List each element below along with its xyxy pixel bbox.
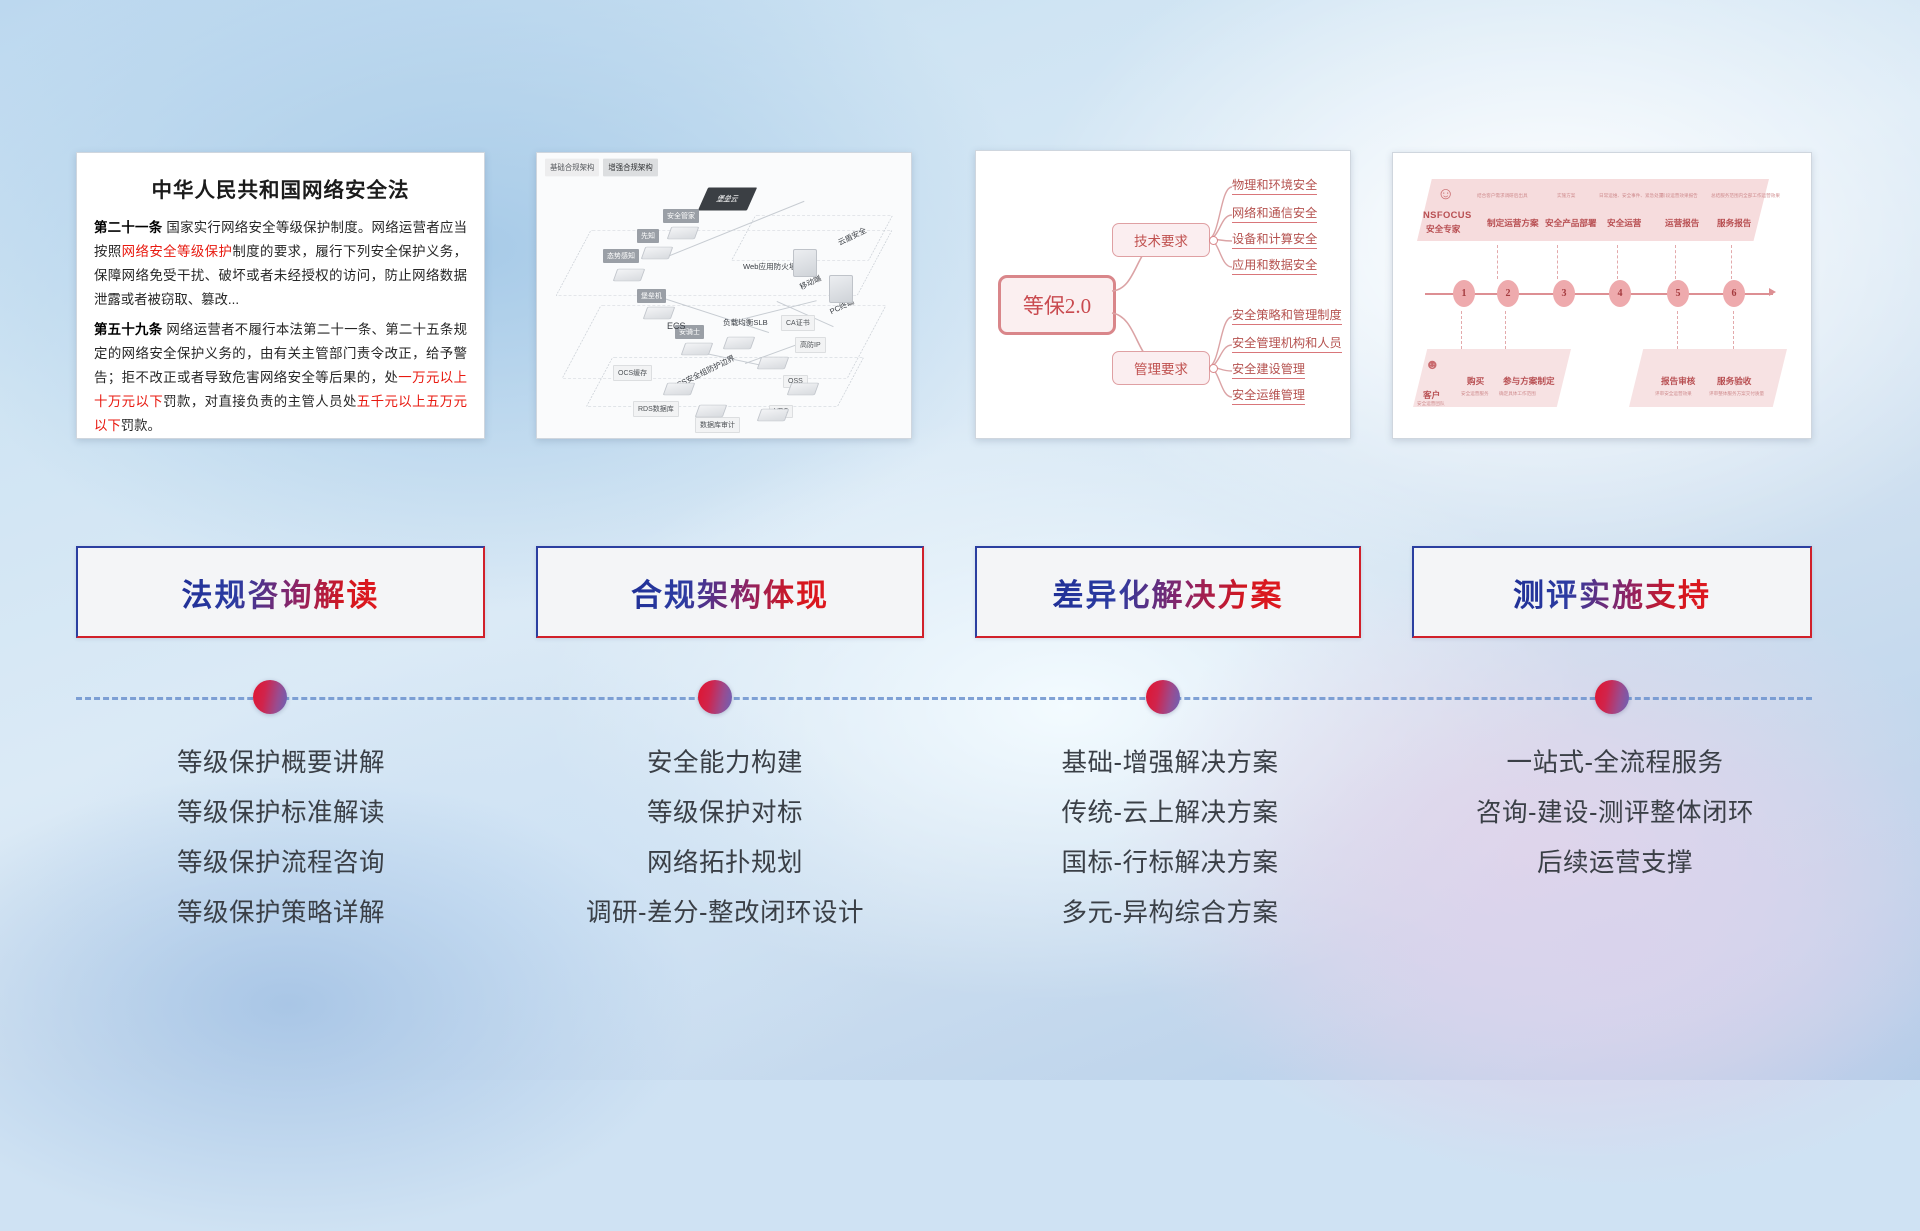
list-item: 多元-异构综合方案 [945,888,1395,938]
flow-top-sub-0: 结合客户需求调研后出具 [1477,193,1528,199]
expert-person-icon: ☺ [1437,185,1454,202]
flow-axis-line [1425,293,1773,295]
arch-tag-situational-awareness: 态势感知 [603,249,639,263]
list-item: 等级保护标准解读 [56,788,506,838]
list-item: 等级保护流程咨询 [56,838,506,888]
flow-bottom-left-sub-1: 确定具体工作范围 [1499,391,1536,397]
flow-step-3: 3 [1553,280,1575,307]
headline-label-1: 合规架构体现 [631,570,829,615]
arch-tag-fortress-cloud: 堡垒云 [698,188,757,211]
arch-tag-ocs-cache: OCS缓存 [613,365,652,381]
flow-bottom-right-sub-0: 评审安全运营效果 [1655,391,1692,397]
flow-axis-arrow [1769,288,1776,296]
mindmap-leaf-physical-environment: 物理和环境安全 [1232,175,1317,195]
arch-label-waf: Web应用防火墙 [743,261,796,272]
headline-box-differentiated-solution[interactable]: 差异化解决方案 [975,546,1361,638]
flow-top-sub-4: 总结服务范围内全部工作运营效果 [1711,193,1780,199]
mindmap-branch-technical: 技术要求 [1112,223,1210,257]
arch-tag-rds-database: RDS数据库 [633,401,679,417]
headline-label-3: 测评实施支持 [1513,570,1711,615]
arch-tag-xianzhi: 先知 [637,229,659,243]
flow-brand-name: NSFOCUS [1423,209,1472,220]
flow-top-sub-1: 实施方案 [1557,193,1575,199]
flow-top-title-2: 安全运营 [1607,217,1641,229]
flow-brand-sub: 安全专家 [1426,223,1460,235]
customer-person-icon: ☻ [1425,357,1440,371]
list-item: 等级保护策略详解 [56,888,506,938]
headline-label-0: 法规咨询解读 [182,570,380,615]
arch-tag-anti-ddos-ip: 高防IP [795,337,826,353]
timeline-dot-2[interactable] [698,680,732,714]
arch-tag-security-butler: 安全管家 [663,209,699,223]
mindmap-leaf-security-org-personnel: 安全管理机构和人员 [1232,333,1342,353]
timeline-dashed-line [76,697,1812,700]
flow-top-title-0: 制定运营方案 [1487,217,1539,229]
law-article-number: 第二十一条 [94,220,162,235]
mindmap-node-dot-management[interactable] [1209,364,1218,373]
list-item: 一站式-全流程服务 [1390,738,1840,788]
feature-column-solutions: 基础-增强解决方案 传统-云上解决方案 国标-行标解决方案 多元-异构综合方案 [945,738,1395,938]
arch-label-slb: 负载均衡SLB [723,317,768,328]
flow-bottom-left-sub-0: 安全运营服务 [1461,391,1489,397]
flow-bottom-left-title-1: 参与方案制定 [1503,375,1555,387]
list-item: 网络拓扑规划 [500,838,950,888]
list-item: 调研-差分-整改闭环设计 [500,888,950,938]
feature-column-regulation: 等级保护概要讲解 等级保护标准解读 等级保护流程咨询 等级保护策略详解 [56,738,506,938]
mindmap-leaf-security-policy: 安全策略和管理制度 [1232,305,1342,325]
timeline-dot-4[interactable] [1595,680,1629,714]
headline-box-compliance-architecture[interactable]: 合规架构体现 [536,546,924,638]
flow-top-title-3: 运营报告 [1665,217,1699,229]
headline-box-regulation-consulting[interactable]: 法规咨询解读 [76,546,485,638]
flow-step-1: 1 [1453,280,1475,307]
mindmap-card: 等保2.0 技术要求 物理和环境安全 网络和通信安全 设备和计算安全 应用和数据… [975,150,1351,439]
flow-step-4: 4 [1609,280,1631,307]
list-item: 基础-增强解决方案 [945,738,1395,788]
feature-column-architecture: 安全能力构建 等级保护对标 网络拓扑规划 调研-差分-整改闭环设计 [500,738,950,938]
law-highlighted-text: 网络安全等级保护 [122,244,233,259]
flow-top-title-1: 安全产品部署 [1545,217,1597,229]
list-item: 安全能力构建 [500,738,950,788]
arch-tag-bastion-host: 堡垒机 [637,289,666,303]
mindmap-leaf-network-communication: 网络和通信安全 [1232,203,1317,223]
timeline-dot-3[interactable] [1146,680,1180,714]
mindmap-leaf-device-computing: 设备和计算安全 [1232,229,1317,249]
architecture-diagram-card: 基础合规架构 增强合规架构 堡垒云 安全管家 先知 态势感知 [536,152,912,439]
list-item: 等级保护概要讲解 [56,738,506,788]
flow-bottom-left-title-0: 购买 [1467,375,1484,387]
list-item: 等级保护对标 [500,788,950,838]
flow-bottom-right-band [1629,349,1787,407]
mindmap-branch-management: 管理要求 [1112,351,1210,385]
timeline-dot-1[interactable] [253,680,287,714]
feature-column-evaluation: 一站式-全流程服务 咨询-建设-测评整体闭环 后续运营支撑 [1390,738,1840,888]
flow-bottom-right-title-0: 报告审核 [1661,375,1695,387]
flow-bottom-right-sub-1: 评审整体服务方案交付质量 [1709,391,1764,397]
headline-label-2: 差异化解决方案 [1053,570,1284,615]
architecture-canvas: 堡垒云 安全管家 先知 态势感知 堡垒机 安骑士 OCS缓存 RDS数据库 数据… [537,153,911,438]
law-body-text: 罚款，对直接负责的主管人员处 [163,394,357,409]
law-card-title: 中华人民共和国网络安全法 [94,173,467,203]
mindmap-leaf-security-operation: 安全运维管理 [1232,385,1305,405]
mindmap-leaf-application-data: 应用和数据安全 [1232,255,1317,275]
law-body-text: 罚款。 [121,418,161,433]
service-flow-card: ☺ NSFOCUS 安全专家 结合客户需求调研后出具 制定运营方案 实施方案 安… [1392,152,1812,439]
law-text-card: 中华人民共和国网络安全法 第二十一条 国家实行网络安全等级保护制度。网络运营者应… [76,152,485,439]
list-item: 传统-云上解决方案 [945,788,1395,838]
list-item: 后续运营支撑 [1390,838,1840,888]
flow-bottom-brand: 客户 [1423,389,1440,401]
flow-step-5: 5 [1667,280,1689,307]
list-item: 咨询-建设-测评整体闭环 [1390,788,1840,838]
list-item: 国标-行标解决方案 [945,838,1395,888]
law-article-number: 第五十九条 [94,322,162,337]
flow-bottom-right-title-1: 服务验收 [1717,375,1751,387]
law-paragraph-21: 第二十一条 国家实行网络安全等级保护制度。网络运营者应当按照网络安全等级保护制度… [94,216,467,311]
flow-top-title-4: 服务报告 [1717,217,1751,229]
law-paragraph-59: 第五十九条 网络运营者不履行本法第二十一条、第二十五条规定的网络安全保护义务的，… [94,318,467,437]
flow-top-sub-3: 阶段运营效果报告 [1661,193,1698,199]
headline-box-evaluation-support[interactable]: 测评实施支持 [1412,546,1812,638]
flow-bottom-brand-sub: 安全运营团队 [1417,401,1445,407]
flow-step-2: 2 [1497,280,1519,307]
flow-step-6: 6 [1723,280,1745,307]
arch-tag-ca-certificate: CA证书 [781,315,815,331]
mindmap-leaf-security-construction: 安全建设管理 [1232,359,1305,379]
flow-top-sub-2: 日常运维、安全事件、紧急处置 [1599,193,1663,199]
mindmap-node-dot-technical[interactable] [1209,236,1218,245]
arch-label-ecs: ECS [667,321,686,331]
